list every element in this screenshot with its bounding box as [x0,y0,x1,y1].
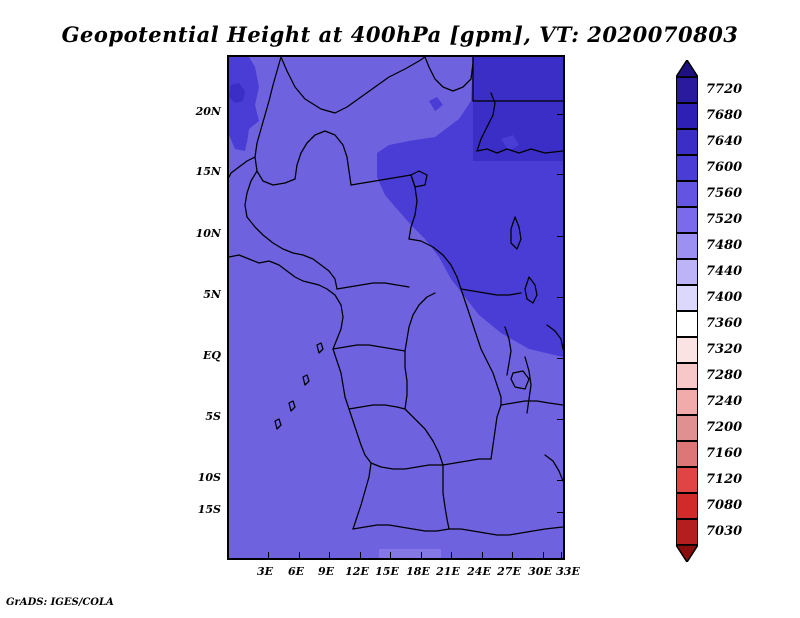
colorbar-swatch [676,415,698,441]
colorbar-swatch [676,337,698,363]
x-tick [561,552,562,558]
x-tick [421,552,422,558]
x-axis-label-33E: 33E [553,565,583,578]
x-axis-label-12E: 12E [342,565,372,578]
map-canvas [229,57,563,558]
x-tick [543,552,544,558]
y-axis-label-10N: 10N [185,227,221,240]
x-tick [512,552,513,558]
colorbar-label-7120: 7120 [706,472,742,487]
y-tick [557,419,563,420]
colorbar-swatch [676,285,698,311]
colorbar-label-7360: 7360 [706,316,742,331]
y-tick [557,512,563,513]
colorbar-swatch [676,441,698,467]
colorbar-swatch [676,233,698,259]
y-tick [557,236,563,237]
colorbar-swatch [676,77,698,103]
y-axis-label-20N: 20N [185,105,221,118]
colorbar-top-arrow-icon [676,60,698,77]
x-axis-label-6E: 6E [281,565,311,578]
colorbar-swatch [676,311,698,337]
colorbar-label-7320: 7320 [706,342,742,357]
colorbar-label-7280: 7280 [706,368,742,383]
colorbar-label-7720: 7720 [706,82,742,97]
y-tick [557,114,563,115]
x-axis-label-21E: 21E [433,565,463,578]
y-tick [557,174,563,175]
colorbar-swatch [676,259,698,285]
x-tick [482,552,483,558]
colorbar-swatch [676,519,698,545]
colorbar-label-7640: 7640 [706,134,742,149]
colorbar-swatch [676,363,698,389]
y-tick [557,297,563,298]
y-axis-label-10S: 10S [185,471,221,484]
x-axis-label-15E: 15E [372,565,402,578]
x-axis-label-30E: 30E [525,565,555,578]
colorbar-label-7600: 7600 [706,160,742,175]
x-tick [268,552,269,558]
page-title: Geopotential Height at 400hPa [gpm], VT:… [0,22,800,47]
colorbar-label-7520: 7520 [706,212,742,227]
map-plot-area [227,55,565,560]
colorbar-swatch [676,389,698,415]
y-axis-label-5N: 5N [185,288,221,301]
x-axis-label-24E: 24E [464,565,494,578]
colorbar-swatch [676,467,698,493]
colorbar-label-7080: 7080 [706,498,742,513]
x-axis-label-27E: 27E [494,565,524,578]
colorbar-label-7200: 7200 [706,420,742,435]
colorbar-label-7560: 7560 [706,186,742,201]
colorbar-swatch [676,207,698,233]
y-axis-label-15S: 15S [185,503,221,516]
colorbar-swatch [676,493,698,519]
colorbar-label-7400: 7400 [706,290,742,305]
x-axis-label-3E: 3E [250,565,280,578]
colorbar-label-7240: 7240 [706,394,742,409]
colorbar-swatch [676,129,698,155]
y-axis-label-EQ: EQ [185,349,221,362]
y-axis-label-15N: 15N [185,165,221,178]
colorbar-swatch [676,181,698,207]
colorbar-label-7480: 7480 [706,238,742,253]
x-axis-label-9E: 9E [311,565,341,578]
colorbar-label-7440: 7440 [706,264,742,279]
colorbar-bottom-arrow-icon [676,545,698,562]
colorbar-label-7030: 7030 [706,524,742,539]
colorbar: 7720 7680 7640 7600 7560 7520 7480 7440 … [672,60,800,560]
colorbar-swatch [676,155,698,181]
x-tick [299,552,300,558]
y-tick [557,480,563,481]
colorbar-swatch [676,103,698,129]
footer-attribution: GrADS: IGES/COLA [6,597,114,608]
x-tick [451,552,452,558]
x-tick [329,552,330,558]
colorbar-label-7680: 7680 [706,108,742,123]
y-tick [557,358,563,359]
colorbar-label-7160: 7160 [706,446,742,461]
x-tick [360,552,361,558]
y-axis-label-5S: 5S [185,410,221,423]
x-axis-label-18E: 18E [403,565,433,578]
x-tick [390,552,391,558]
